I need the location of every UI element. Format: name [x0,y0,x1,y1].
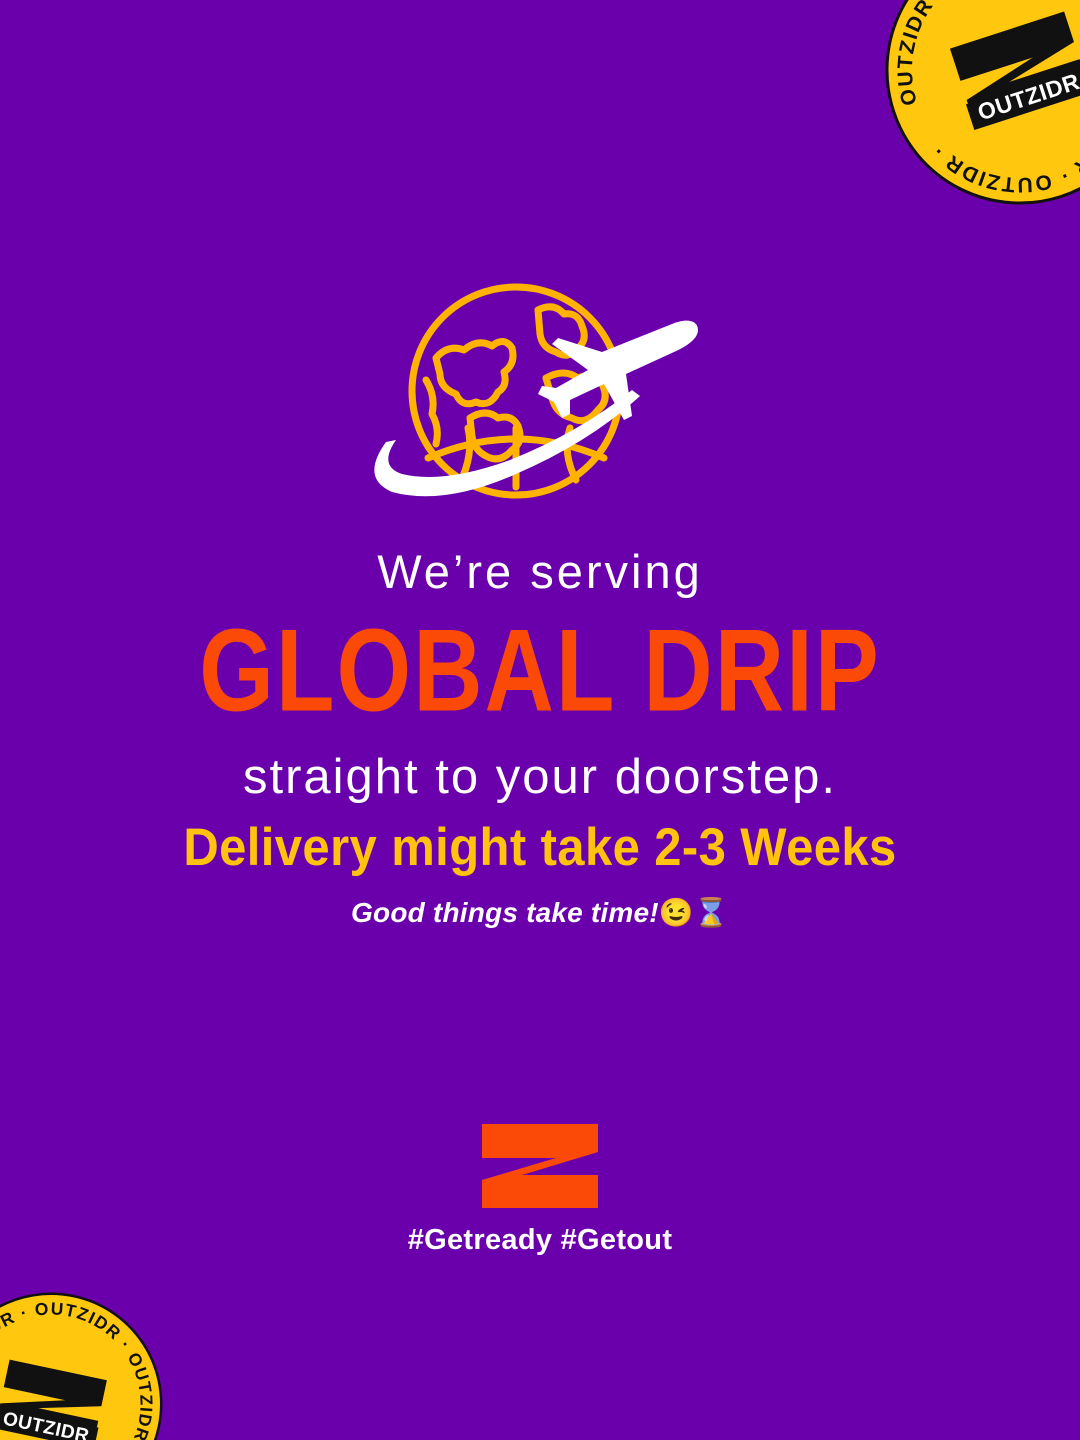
headline-line-1: We’re serving [0,548,1080,595]
poster-canvas: OUTZIDR · OUTZIDR · OUTZIDR · OUTZIDR · … [0,0,1080,1440]
outzidr-stamp-bottom-left: OUTZIDR · OUTZIDR · OUTZIDR · OUTZIDR · … [0,1266,189,1440]
delivery-notice-block: Delivery might take 2-3 Weeks Good thing… [0,822,1080,927]
outzidr-stamp-top-right: OUTZIDR · OUTZIDR · OUTZIDR · OUTZIDR · … [844,0,1080,246]
footer-brand-block: #Getready #Getout [0,1122,1080,1257]
delivery-subtext: Good things take time!😉⌛ [0,899,1080,927]
delivery-timeframe-text: Delivery might take 2-3 Weeks [0,822,1080,875]
headline-line-2: GLOBAL DRIP [0,613,1080,730]
headline-line-3: straight to your doorstep. [0,753,1080,802]
headline-block: We’re serving GLOBAL DRIP straight to yo… [0,548,1080,802]
z-logo-icon [478,1122,602,1210]
wink-hourglass-emoji: 😉⌛ [659,897,729,928]
hashtags-text: #Getready #Getout [0,1224,1080,1257]
delivery-subtext-label: Good things take time! [351,897,659,928]
globe-airplane-emblem [340,268,740,518]
